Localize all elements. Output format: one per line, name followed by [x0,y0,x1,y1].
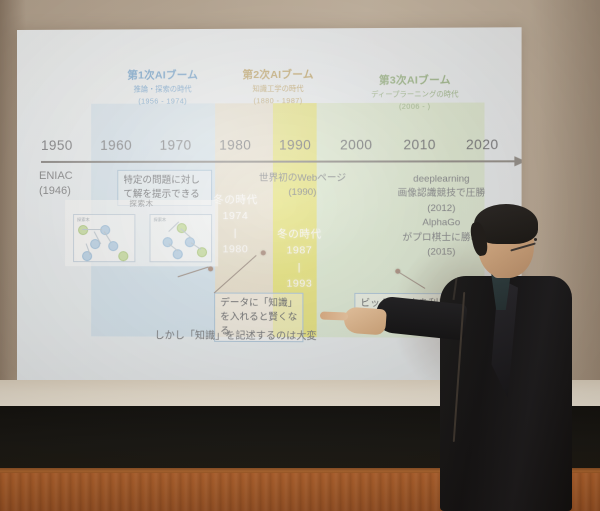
web-line-2: (1990) [240,186,364,200]
tree-node [82,251,92,261]
presenter [392,216,600,511]
presenter-hand [343,307,387,336]
tree-node [108,241,118,251]
boom-2-title: 第2次AIブーム [223,69,333,83]
boom-1-years: (1956 - 1974) [103,96,222,106]
boom-3-subtitle: ディープラーニングの時代 [338,90,492,100]
eniac-year: (1946) [39,183,73,198]
year-label-2000: 2000 [340,137,372,152]
winter-2-dash: | [277,259,322,275]
eniac-name: ENIAC [39,169,73,184]
tree-node [118,251,128,261]
year-label-2020: 2020 [466,137,499,152]
year-label-1970: 1970 [160,138,192,153]
winter-1-from: 1974 [211,208,260,224]
dl-line-2: 画像認識競技で圧勝 [373,187,510,202]
boom-1-title: 第1次AIブーム [103,69,222,83]
winter-period-2: 冬の時代 1987 | 1993 [277,226,322,292]
boom-header-2: 第2次AIブーム 知識工学の時代 (1880 - 1987) [223,69,333,106]
year-label-1950: 1950 [41,138,73,153]
boom-2-subtitle: 知識工学の時代 [223,84,333,94]
eniac-label: ENIAC (1946) [39,169,73,198]
search-tree-box-right: 探索木 [149,214,212,262]
headset-mic-tip [534,238,537,241]
year-label-1960: 1960 [100,138,132,153]
winter-1-to: 1980 [211,241,260,257]
tree-edge [82,229,102,230]
winter-2-to: 1993 [277,275,322,292]
web-line-1: 世界初のWebページ [240,172,364,186]
search-tree-graphics: 探索木 探索木 [65,200,218,266]
timeline-arrow-icon [514,156,521,166]
connector-dot-2 [261,250,266,255]
boom-2-years: (1880 - 1987) [223,96,333,106]
presenter-pointing-finger [320,312,348,321]
winter-1-dash: | [211,225,260,241]
search-tree-left-label: 探索木 [77,217,90,223]
boom-1-subtitle: 推論・探索の時代 [103,85,222,95]
neural-network-panel: 28×28=784px の画像データを入力 28×28 px 入力 出力 0 0… [43,270,220,367]
lecture-hall-scene: 第1次AIブーム 推論・探索の時代 (1956 - 1974) 第2次AIブーム… [0,0,600,511]
year-label-2010: 2010 [403,137,435,152]
winter-2-label: 冬の時代 [277,226,322,242]
boom-header-3: 第3次AIブーム ディープラーニングの時代 (2006 - ) [338,74,492,111]
boom-3-years: (2006 - ) [338,101,492,111]
boom-header-1: 第1次AIブーム 推論・探索の時代 (1956 - 1974) [103,69,222,105]
boom-3-title: 第3次AIブーム [338,74,492,88]
dl-line-1: deeplearning [373,172,510,187]
year-label-1980: 1980 [219,138,251,153]
winter-period-1: 冬の時代 1974 | 1980 [211,192,260,258]
search-tree-box-left: 探索木 [73,214,135,262]
winter-2-from: 1987 [277,243,322,259]
year-label-1990: 1990 [279,137,311,152]
first-webpage-note: 世界初のWebページ (1990) [240,172,364,200]
search-tree-right-label: 探索木 [154,217,167,223]
